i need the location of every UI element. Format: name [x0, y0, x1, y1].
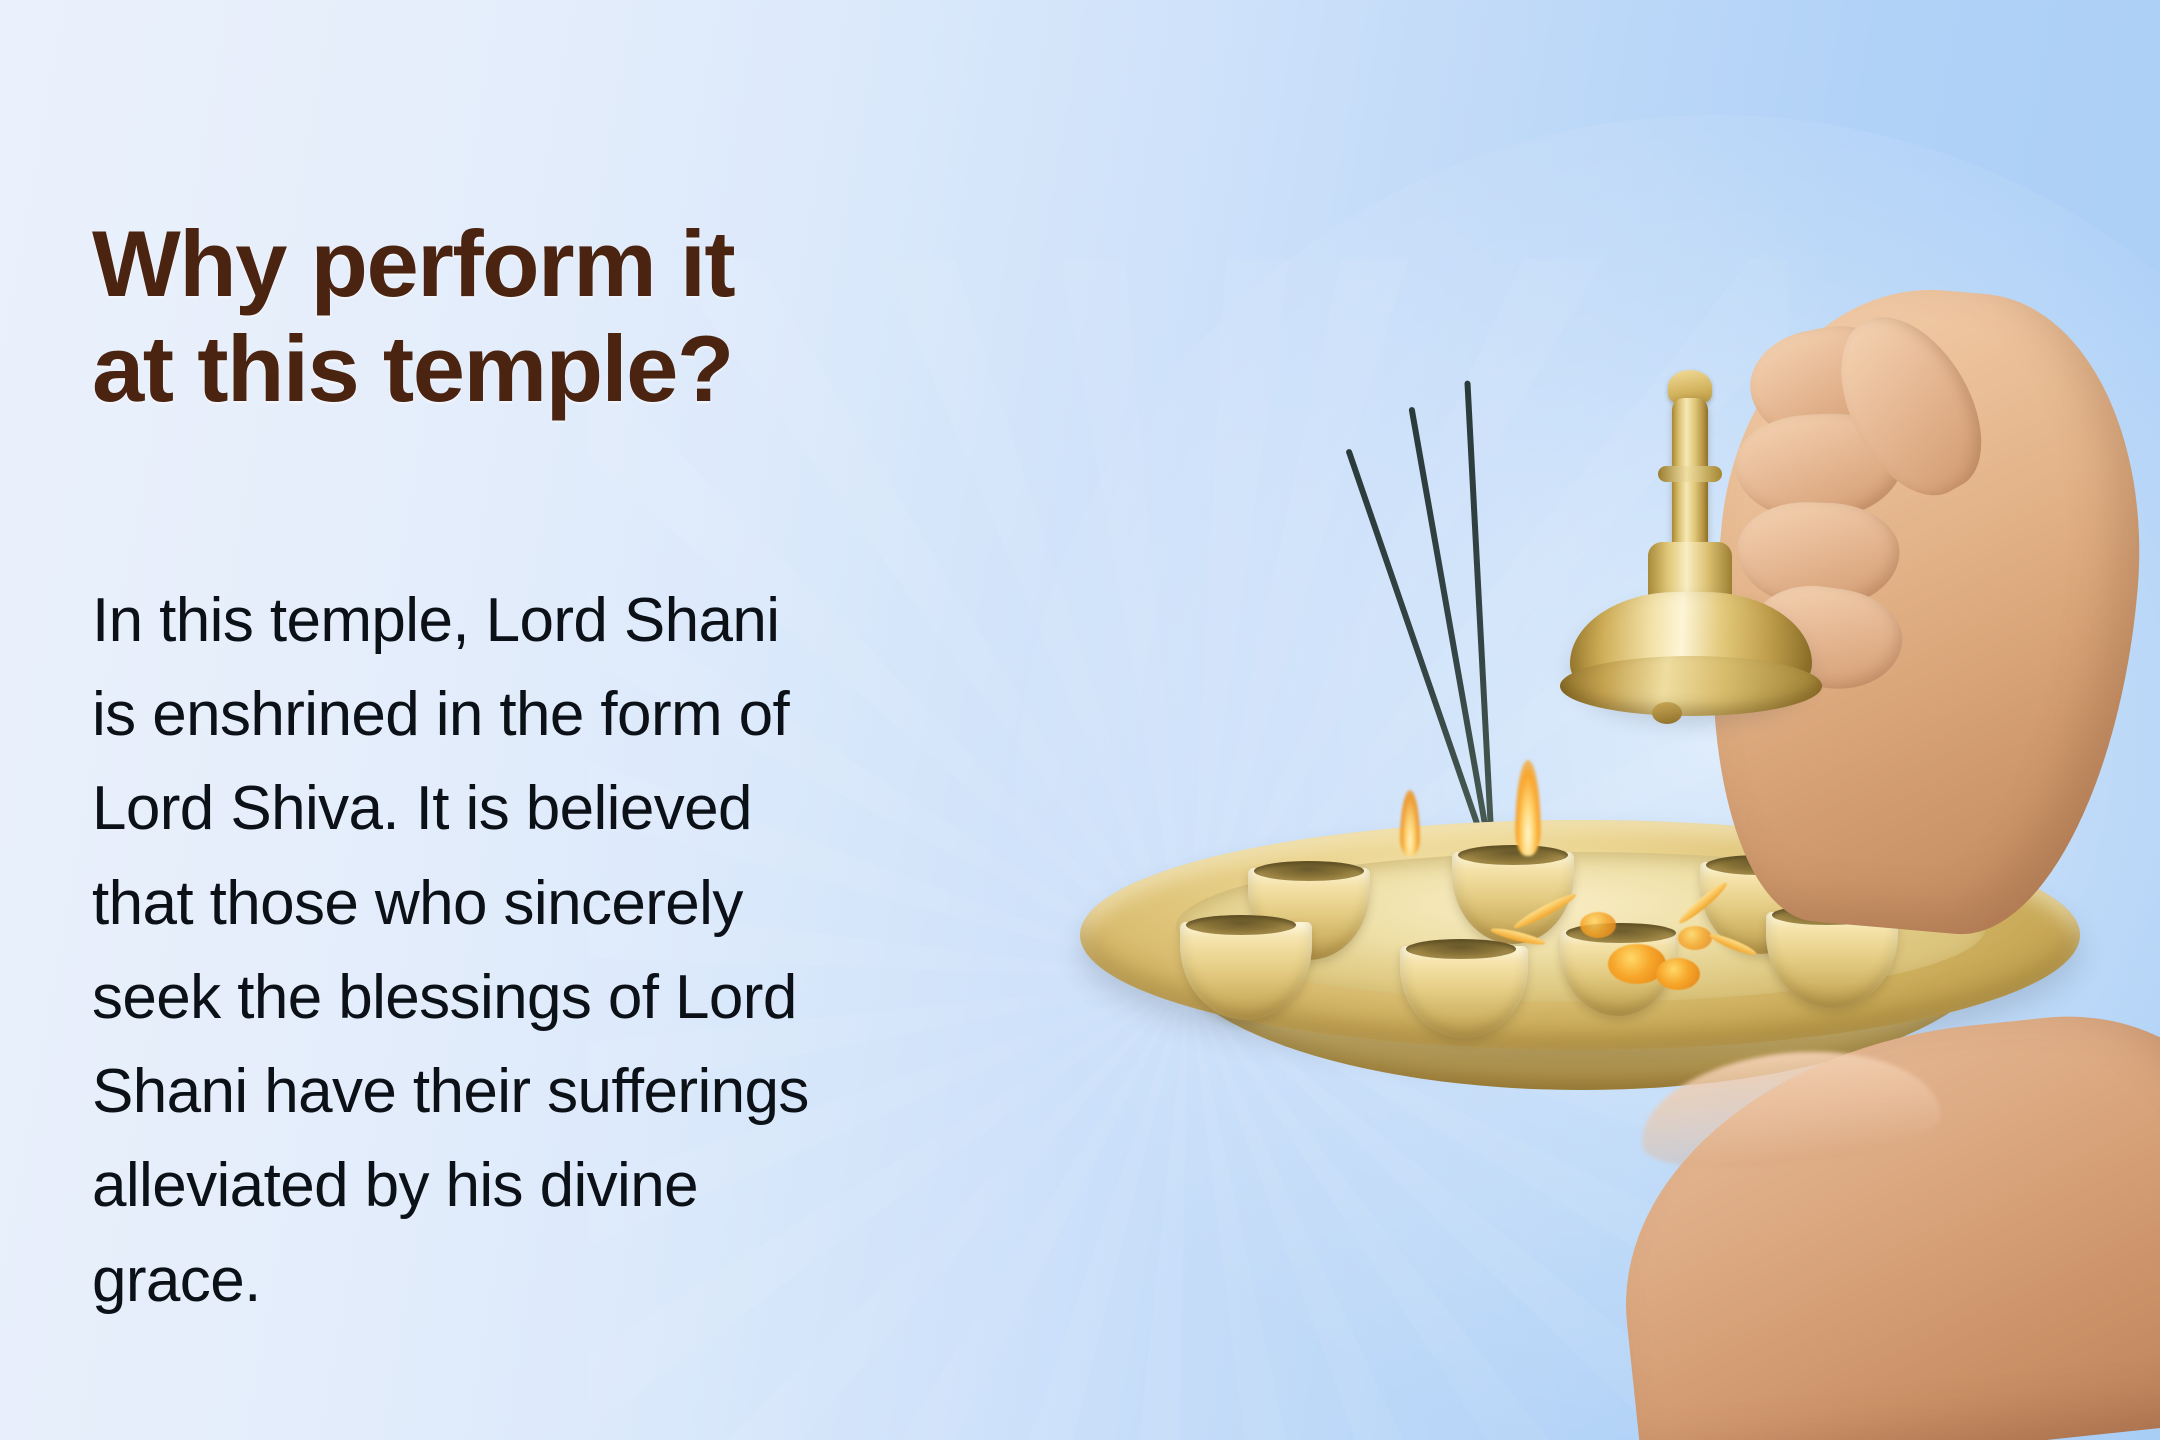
body-line-7: alleviated by his divine	[92, 1139, 1052, 1233]
body-line-6: Shani have their sufferings	[92, 1045, 1052, 1139]
bell-handle-ring	[1658, 466, 1722, 482]
text-column: Why perform it at this temple? In this t…	[92, 0, 1092, 1440]
body-line-2: is enshrined in the form of	[92, 668, 1052, 762]
bell-clapper	[1652, 702, 1682, 724]
body-line-4: that those who sincerely	[92, 857, 1052, 951]
heading-line-2: at this temple?	[92, 316, 1052, 421]
brass-bell-icon	[1530, 370, 1850, 730]
body-paragraph: In this temple, Lord Shani is enshrined …	[92, 574, 1052, 1328]
body-line-8: grace.	[92, 1234, 1052, 1328]
body-line-1: In this temple, Lord Shani	[92, 574, 1052, 668]
marigold-flower	[1580, 912, 1616, 938]
body-line-5: seek the blessings of Lord	[92, 951, 1052, 1045]
bell-lip	[1560, 656, 1822, 716]
marigold-flower	[1678, 926, 1712, 950]
heading-line-1: Why perform it	[92, 211, 1052, 316]
page-title: Why perform it at this temple?	[92, 211, 1052, 422]
slide-root: Why perform it at this temple? In this t…	[0, 0, 2160, 1440]
marigold-flower	[1656, 958, 1700, 990]
puja-thali-photo	[1060, 0, 2160, 1440]
body-line-3: Lord Shiva. It is believed	[92, 762, 1052, 856]
